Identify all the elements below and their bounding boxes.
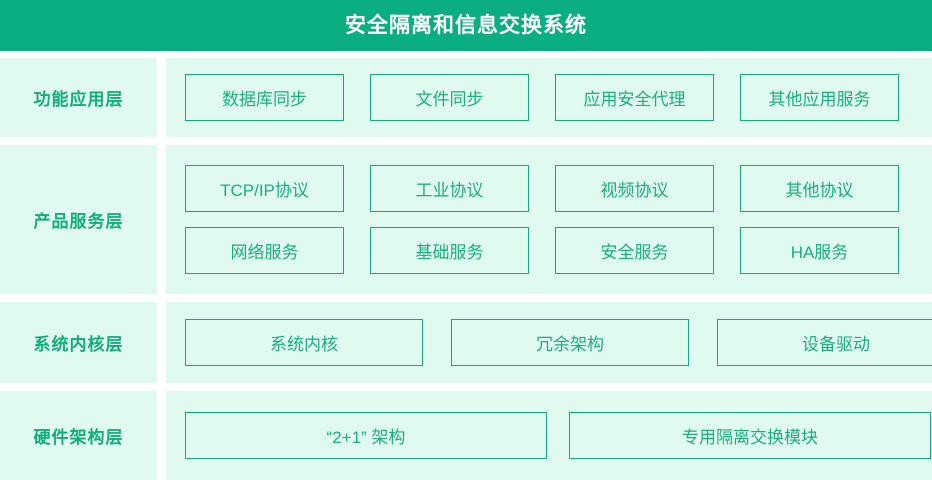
- diagram-header: 安全隔离和信息交换系统: [0, 0, 932, 51]
- layer-row-system-kernel: 系统内核层 系统内核 冗余架构 设备驱动: [0, 302, 932, 383]
- box-line: TCP/IP协议 工业协议 视频协议 其他协议: [185, 165, 916, 212]
- layer-content-functional-application: 数据库同步 文件同步 应用安全代理 其他应用服务: [166, 58, 932, 137]
- item-box[interactable]: 设备驱动: [717, 319, 932, 366]
- item-box[interactable]: 基础服务: [370, 227, 529, 274]
- architecture-diagram: 安全隔离和信息交换系统 功能应用层 数据库同步 文件同步 应用安全代理 其他应用…: [0, 0, 932, 480]
- item-box[interactable]: “2+1” 架构: [185, 412, 547, 459]
- box-line: 系统内核 冗余架构 设备驱动: [185, 319, 932, 366]
- item-box[interactable]: 其他协议: [740, 165, 899, 212]
- item-box[interactable]: 应用安全代理: [555, 74, 714, 121]
- layer-content-hardware-architecture: “2+1” 架构 专用隔离交换模块: [166, 391, 932, 480]
- layer-label-product-service: 产品服务层: [0, 145, 157, 294]
- layer-row-functional-application: 功能应用层 数据库同步 文件同步 应用安全代理 其他应用服务: [0, 58, 932, 137]
- column-divider: [157, 58, 166, 137]
- item-box[interactable]: 数据库同步: [185, 74, 344, 121]
- item-box[interactable]: TCP/IP协议: [185, 165, 344, 212]
- layer-content-product-service: TCP/IP协议 工业协议 视频协议 其他协议 网络服务 基础服务 安全服务 H…: [166, 145, 932, 294]
- item-box[interactable]: 网络服务: [185, 227, 344, 274]
- item-box[interactable]: 专用隔离交换模块: [569, 412, 931, 459]
- page-title: 安全隔离和信息交换系统: [345, 15, 587, 36]
- item-box[interactable]: 其他应用服务: [740, 74, 899, 121]
- layer-row-product-service: 产品服务层 TCP/IP协议 工业协议 视频协议 其他协议 网络服务 基础服务 …: [0, 145, 932, 294]
- item-box[interactable]: 系统内核: [185, 319, 423, 366]
- layer-label-functional-application: 功能应用层: [0, 58, 157, 137]
- item-box[interactable]: 文件同步: [370, 74, 529, 121]
- box-line: 网络服务 基础服务 安全服务 HA服务: [185, 227, 916, 274]
- layer-row-hardware-architecture: 硬件架构层 “2+1” 架构 专用隔离交换模块: [0, 391, 932, 480]
- item-box[interactable]: 视频协议: [555, 165, 714, 212]
- layer-content-system-kernel: 系统内核 冗余架构 设备驱动: [166, 302, 932, 383]
- item-box[interactable]: HA服务: [740, 227, 899, 274]
- column-divider: [157, 391, 166, 480]
- item-box[interactable]: 冗余架构: [451, 319, 689, 366]
- column-divider: [157, 302, 166, 383]
- item-box[interactable]: 工业协议: [370, 165, 529, 212]
- item-box[interactable]: 安全服务: [555, 227, 714, 274]
- box-line: “2+1” 架构 专用隔离交换模块: [185, 412, 931, 459]
- box-line: 数据库同步 文件同步 应用安全代理 其他应用服务: [185, 74, 916, 121]
- layer-label-hardware-architecture: 硬件架构层: [0, 391, 157, 480]
- column-divider: [157, 145, 166, 294]
- layer-label-system-kernel: 系统内核层: [0, 302, 157, 383]
